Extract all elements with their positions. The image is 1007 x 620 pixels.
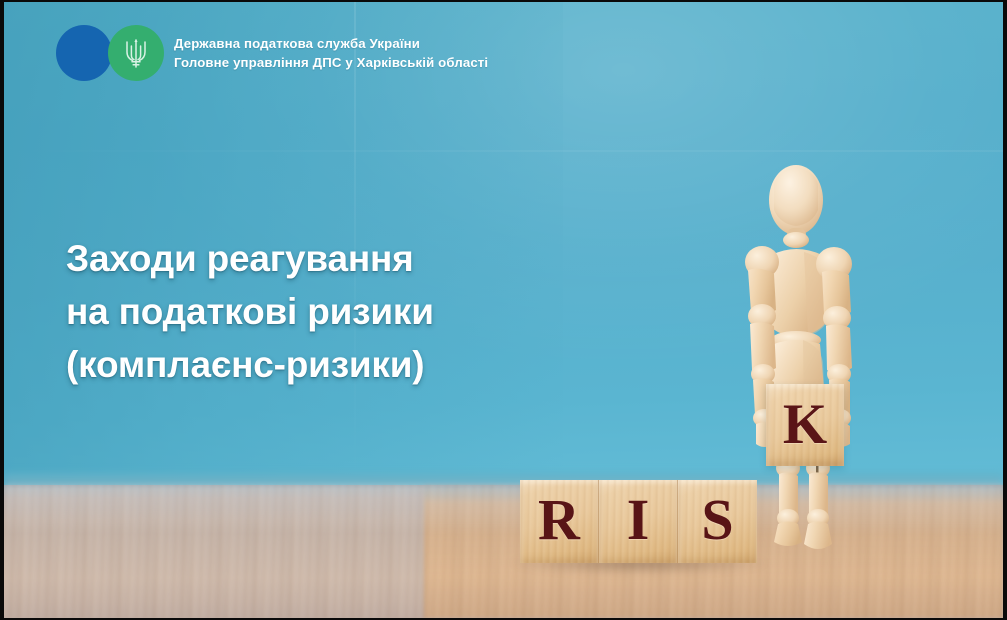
letter-block-k: K — [766, 384, 844, 466]
organisation-header: Державна податкова служба України Головн… — [56, 24, 488, 82]
letter-block-i-glyph: I — [627, 491, 650, 549]
blue-circle-icon — [56, 25, 112, 81]
organisation-name-line-2: Головне управління ДПС у Харківській обл… — [174, 53, 488, 73]
headline-line-1: Заходи реагування — [66, 232, 434, 285]
headline-line-2: на податкові ризики — [66, 285, 434, 338]
letter-block-r: R — [520, 480, 599, 563]
banner-image: K R I S — [0, 0, 1007, 620]
headline-line-3: (комплаєнс-ризики) — [66, 338, 434, 391]
letter-block-s: S — [678, 480, 757, 563]
organisation-name: Державна податкова служба України Головн… — [174, 34, 488, 73]
letter-blocks-row: R I S — [520, 480, 757, 563]
letter-block-i: I — [599, 480, 678, 563]
letter-block-k-glyph: K — [783, 396, 827, 453]
wall-seam-horizontal — [4, 150, 1003, 152]
green-circle-trident-icon — [108, 25, 164, 81]
dps-logo — [56, 24, 164, 82]
letter-block-s-glyph: S — [701, 491, 733, 549]
organisation-name-line-1: Державна податкова служба України — [174, 34, 488, 54]
ukraine-trident-icon — [123, 36, 149, 70]
headline: Заходи реагування на податкові ризики (к… — [66, 232, 434, 391]
letter-block-r-glyph: R — [538, 491, 580, 549]
